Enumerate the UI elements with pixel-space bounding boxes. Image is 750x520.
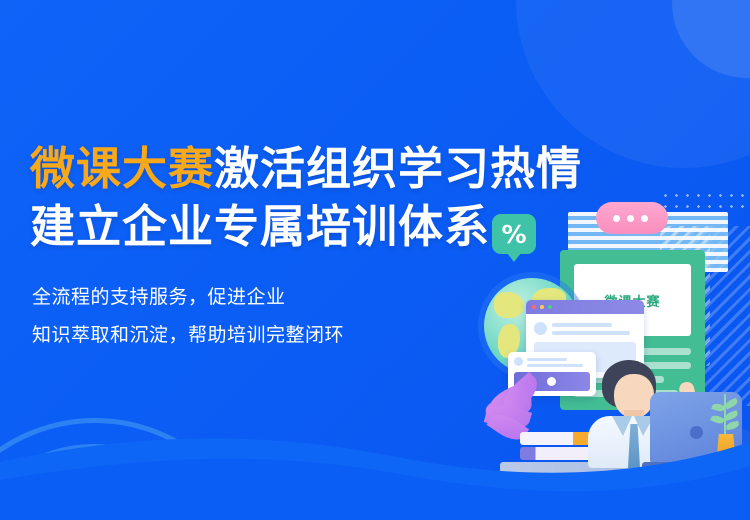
chat-bubble-icon	[596, 202, 668, 234]
headline-highlight: 微课大赛	[30, 142, 214, 195]
headline-line-1: 微课大赛激活组织学习热情	[30, 140, 500, 198]
foreground-wave	[0, 370, 750, 520]
percent-badge: %	[492, 214, 536, 254]
copy-block: 微课大赛激活组织学习热情 建立企业专属培训体系 全流程的支持服务，促进企业 知识…	[30, 140, 500, 354]
headline-line-2: 建立企业专属培训体系	[30, 198, 500, 256]
subhead-line-1: 全流程的支持服务，促进企业	[32, 278, 500, 316]
subhead-line-2: 知识萃取和沉淀，帮助培训完整闭环	[32, 316, 500, 354]
promo-banner: 微课大赛激活组织学习热情 建立企业专属培训体系 全流程的支持服务，促进企业 知识…	[0, 0, 750, 520]
